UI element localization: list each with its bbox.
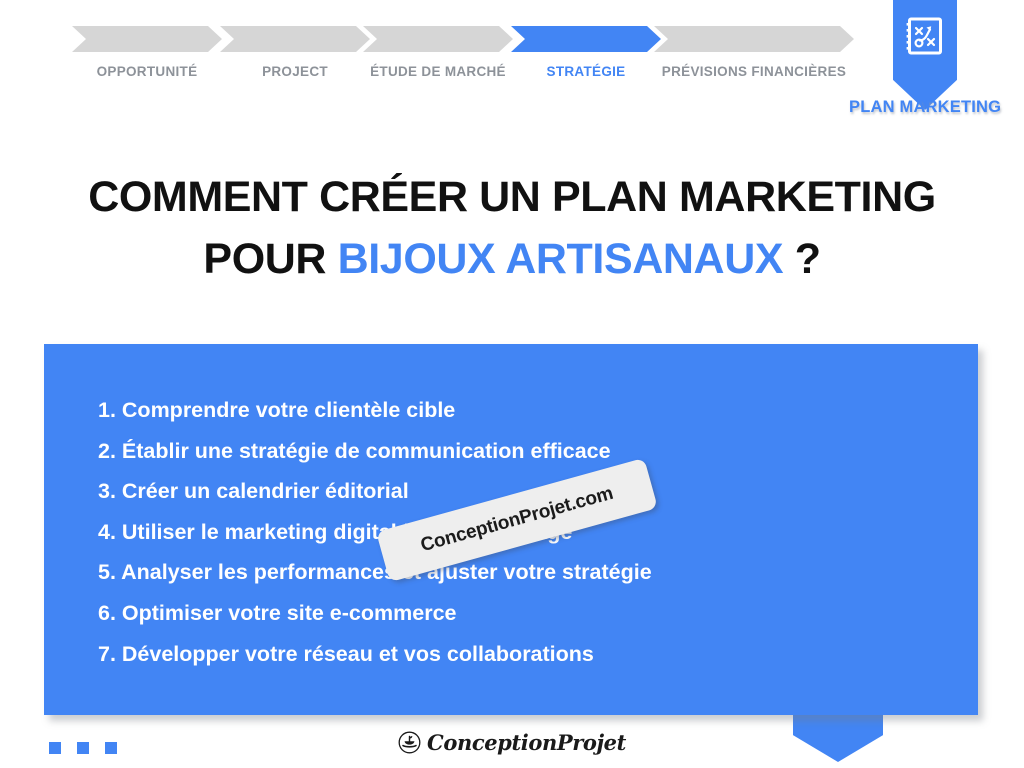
title-line-1: COMMENT CRÉER UN PLAN MARKETING xyxy=(0,166,1024,228)
process-step-label: PRÉVISIONS FINANCIÈRES xyxy=(654,64,854,79)
process-step-5[interactable]: PRÉVISIONS FINANCIÈRES xyxy=(654,26,854,98)
badge-label: PLAN MARKETING xyxy=(849,98,1001,117)
process-steps-bar: OPPORTUNITÉPROJECTÉTUDE DE MARCHÉSTRATÉG… xyxy=(0,26,880,98)
footer-logo: ConceptionProjet xyxy=(0,730,1024,755)
list-item: 6. Optimiser votre site e-commerce xyxy=(53,593,978,634)
process-step-label: OPPORTUNITÉ xyxy=(72,64,222,79)
list-item: 7. Développer votre réseau et vos collab… xyxy=(53,634,978,675)
conceptionprojet-circle-logo-icon xyxy=(398,731,421,754)
title-highlight: BIJOUX ARTISANAUX xyxy=(338,235,784,283)
list-item: 5. Analyser les performances et ajuster … xyxy=(53,552,978,593)
plan-marketing-badge: PLAN MARKETING xyxy=(893,0,957,125)
process-step-label: STRATÉGIE xyxy=(511,64,661,79)
process-step-label: PROJECT xyxy=(220,64,370,79)
list-item: 2. Établir une stratégie de communicatio… xyxy=(53,431,978,472)
title-line-2: POUR BIJOUX ARTISANAUX ? xyxy=(0,228,1024,290)
process-step-label: ÉTUDE DE MARCHÉ xyxy=(363,64,513,79)
process-step-1[interactable]: OPPORTUNITÉ xyxy=(72,26,222,98)
chevron-arrow-icon xyxy=(654,26,854,52)
footer-brand-name: ConceptionProjet xyxy=(427,730,626,755)
page-title: COMMENT CRÉER UN PLAN MARKETING POUR BIJ… xyxy=(0,166,1024,290)
list-item: 1. Comprendre votre clientèle cible xyxy=(53,390,978,431)
slide-canvas: OPPORTUNITÉPROJECTÉTUDE DE MARCHÉSTRATÉG… xyxy=(0,0,1024,768)
process-step-3[interactable]: ÉTUDE DE MARCHÉ xyxy=(363,26,513,98)
chevron-arrow-icon xyxy=(72,26,222,52)
process-step-2[interactable]: PROJECT xyxy=(220,26,370,98)
strategy-board-icon xyxy=(903,14,947,58)
chevron-arrow-icon xyxy=(363,26,513,52)
chevron-arrow-icon xyxy=(511,26,661,52)
title-suffix: ? xyxy=(783,235,820,283)
chevron-arrow-icon xyxy=(220,26,370,52)
title-prefix: POUR xyxy=(203,235,337,283)
process-step-4[interactable]: STRATÉGIE xyxy=(511,26,661,98)
